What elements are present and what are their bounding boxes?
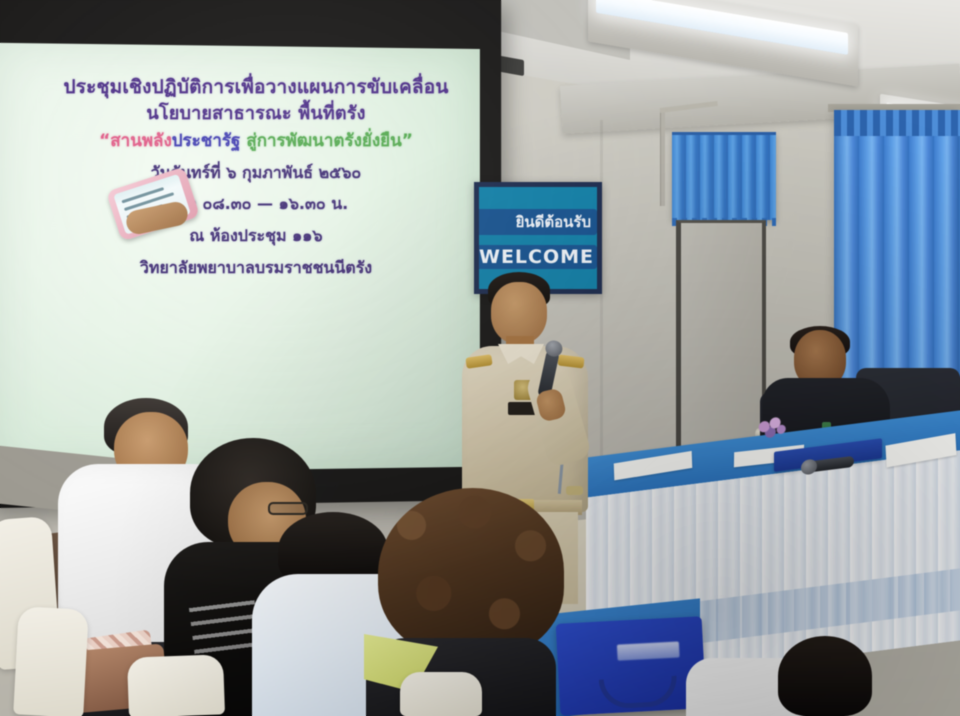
- welcome-banner-english-text: WELCOME: [474, 245, 597, 269]
- presentation-slide: ประชุมเชิงปฏิบัติการเพื่อวางแผนการขับเคล…: [26, 74, 486, 280]
- conference-room-photo: ประชุมเชิงปฏิบัติการเพื่อวางแผนการขับเคล…: [0, 0, 960, 716]
- tote-bag-logo: [617, 641, 680, 660]
- slide-slogan: “สานพลังประชารัฐ สู่การพัฒนาตรังยั่งยืน”: [26, 129, 486, 153]
- slide-room-line: ณ ห้องประชุม ๑๑๖: [26, 225, 486, 248]
- chair-backrest: [127, 654, 225, 716]
- wall-pipe: [660, 110, 665, 206]
- slide-time-line: เวลา ๐๘.๓๐ — ๑๖.๓๐ น.: [26, 193, 486, 216]
- slide-date-line: วันจันทร์ที่ ๖ กุมภาพันธ์ ๒๕๖๐: [26, 162, 486, 185]
- chair-backrest: [13, 606, 89, 716]
- door-valance-curtain: [672, 132, 776, 220]
- slide-title-line-2: นโยบายสาธารณะ พื้นที่ตรัง: [26, 101, 486, 127]
- chair-backrest: [400, 672, 482, 716]
- tote-bag-handle: [599, 676, 678, 710]
- hair: [378, 488, 564, 658]
- head: [491, 282, 547, 344]
- slogan-open-quote: “: [99, 131, 110, 151]
- slogan-segment-3: สู่การพัฒนาตรังยั่งยืน: [240, 131, 401, 151]
- flower-arrangement: [754, 414, 788, 442]
- hair: [778, 636, 872, 716]
- slogan-close-quote: ”: [402, 131, 413, 151]
- slide-title-line-1: ประชุมเชิงปฏิบัติการเพื่อวางแผนการขับเคล…: [26, 74, 486, 101]
- welcome-banner-thai-text: ยินดีต้อนรับ: [474, 209, 597, 235]
- slogan-segment-2: ประชารัฐ: [172, 131, 241, 151]
- attendee-right-edge: [686, 636, 872, 716]
- slogan-segment-1: สานพลัง: [110, 131, 171, 151]
- slide-venue-line: วิทยาลัยพยาบาลบรมราชชนนีตรัง: [26, 257, 486, 280]
